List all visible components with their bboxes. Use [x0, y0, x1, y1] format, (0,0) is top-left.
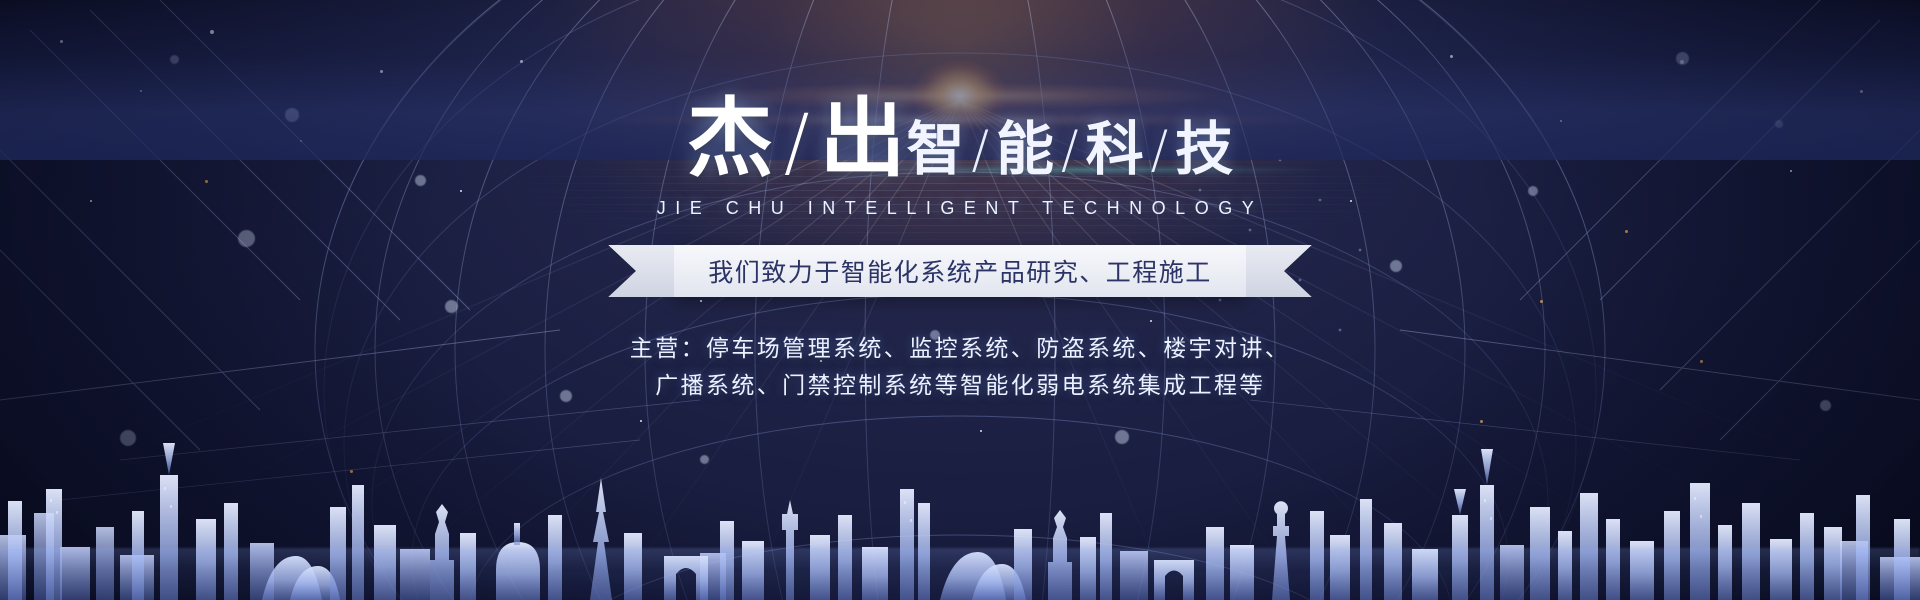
subtitle-english: JIE CHU INTELLIGENT TECHNOLOGY: [657, 198, 1263, 219]
main-title: 杰 / 出 智 / 能 / 科 / 技: [687, 96, 1233, 182]
title-separator-1: /: [784, 104, 810, 180]
title-char-1: 杰: [687, 96, 774, 182]
title-char-4: 能: [996, 120, 1054, 178]
title-char-6: 技: [1175, 120, 1233, 178]
ribbon-banner: 我们致力于智能化系统产品研究、工程施工: [608, 245, 1312, 297]
title-char-5: 科: [1086, 120, 1144, 178]
description-line-2: 广播系统、门禁控制系统等智能化弱电系统集成工程等: [630, 368, 1290, 405]
title-separator-3: /: [1061, 124, 1079, 176]
title-separator-2: /: [971, 124, 989, 176]
title-char-3: 智: [906, 120, 964, 178]
ribbon-body: 我们致力于智能化系统产品研究、工程施工: [674, 245, 1246, 297]
title-char-2: 出: [819, 96, 906, 182]
ribbon-tail-left: [608, 245, 674, 297]
title-separator-4: /: [1151, 124, 1169, 176]
description-line-1: 主营：停车场管理系统、监控系统、防盗系统、楼宇对讲、: [630, 331, 1290, 368]
hero-banner: 杰 / 出 智 / 能 / 科 / 技 JIE CHU INTELLIGENT …: [0, 0, 1920, 600]
description-block: 主营：停车场管理系统、监控系统、防盗系统、楼宇对讲、 广播系统、门禁控制系统等智…: [630, 331, 1290, 406]
ribbon-tail-right: [1246, 245, 1312, 297]
ribbon-text: 我们致力于智能化系统产品研究、工程施工: [708, 253, 1212, 289]
